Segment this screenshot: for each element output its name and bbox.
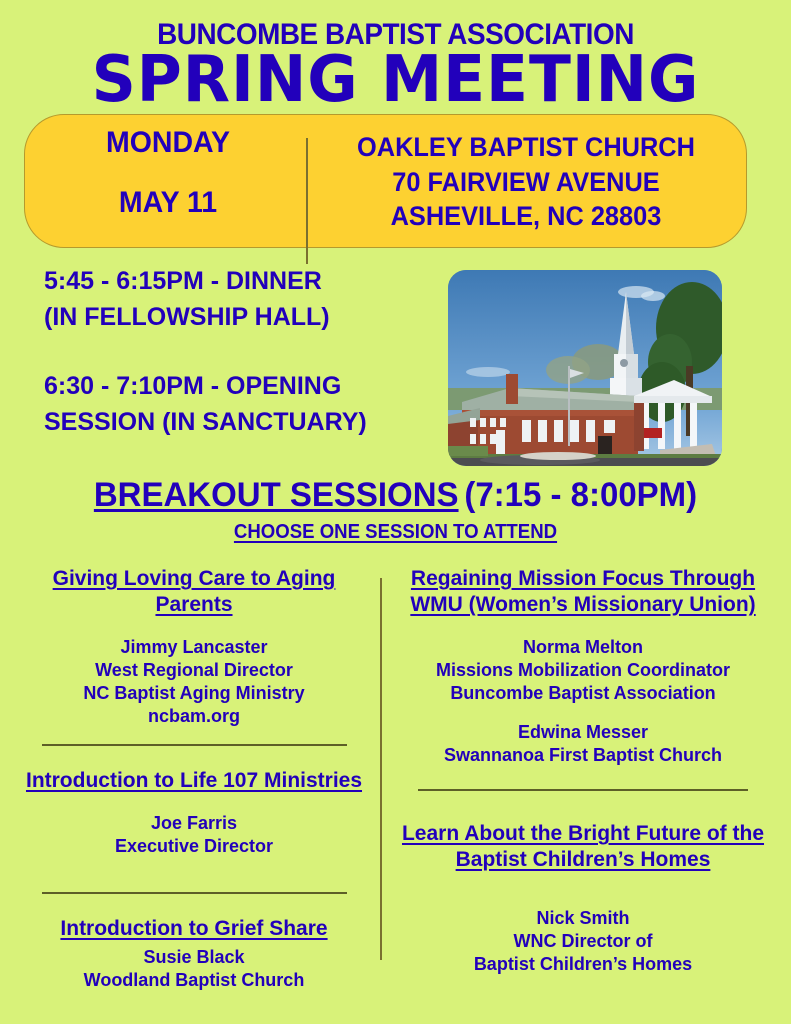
event-date: MAY 11 xyxy=(41,188,296,218)
right-session-column: Regaining Mission Focus Through WMU (Wom… xyxy=(394,566,772,976)
spacer xyxy=(20,894,368,916)
venue-city-state-zip: ASHEVILLE, NC 28803 xyxy=(325,199,727,234)
event-date-block: MONDAY MAY 11 xyxy=(41,128,296,218)
opening-location-label: SESSION (IN SANCTUARY) xyxy=(44,405,444,441)
presenter-website: ncbam.org xyxy=(20,705,368,728)
session-presenters: Joe Farris Executive Director xyxy=(20,812,368,858)
event-day: MONDAY xyxy=(41,128,296,158)
session-title: Regaining Mission Focus Through WMU (Wom… xyxy=(394,566,772,618)
presenter-name: Jimmy Lancaster xyxy=(20,636,368,659)
presenter-name: Susie Black xyxy=(20,946,368,969)
church-photo-illustration xyxy=(448,270,722,466)
dinner-location-label: (IN FELLOWSHIP HALL) xyxy=(44,300,444,336)
left-session-column: Giving Loving Care to Aging Parents Jimm… xyxy=(20,566,368,992)
session-presenters: Nick Smith WNC Director of Baptist Child… xyxy=(394,907,772,976)
session-title: Learn About the Bright Future of the Bap… xyxy=(394,821,772,873)
opening-time-label: 6:30 - 7:10PM - OPENING xyxy=(44,369,444,405)
spacer xyxy=(20,746,368,768)
breakout-heading-text: BREAKOUT SESSIONS xyxy=(94,476,459,514)
presenter-role: West Regional Director xyxy=(20,659,368,682)
columns-vertical-divider xyxy=(380,578,382,960)
presenter-name: Joe Farris xyxy=(20,812,368,835)
presenter-name: Edwina Messer xyxy=(394,721,772,744)
venue-street: 70 FAIRVIEW AVENUE xyxy=(325,165,727,200)
venue-name: OAKLEY BAPTIST CHURCH xyxy=(325,130,727,165)
session-title: Introduction to Life 107 Ministries xyxy=(20,768,368,794)
dinner-time-label: 5:45 - 6:15PM - DINNER xyxy=(44,264,444,300)
session-wmu-mission-focus: Regaining Mission Focus Through WMU (Wom… xyxy=(394,566,772,767)
presenter-org: Woodland Baptist Church xyxy=(20,969,368,992)
banner-vertical-divider xyxy=(306,138,308,264)
spacer xyxy=(394,791,772,821)
event-venue-block: OAKLEY BAPTIST CHURCH 70 FAIRVIEW AVENUE… xyxy=(325,130,727,234)
session-presenters: Jimmy Lancaster West Regional Director N… xyxy=(20,636,368,728)
presenter-org: Swannanoa First Baptist Church xyxy=(394,744,772,767)
page-title: SPRING MEETING xyxy=(16,48,775,112)
presenter-name: Nick Smith xyxy=(394,907,772,930)
session-life-107: Introduction to Life 107 Ministries Joe … xyxy=(20,768,368,858)
schedule-list: 5:45 - 6:15PM - DINNER (IN FELLOWSHIP HA… xyxy=(44,264,444,440)
presenter-role: Executive Director xyxy=(20,835,368,858)
presenter-role: Missions Mobilization Coordinator xyxy=(394,659,772,682)
presenter-org: Buncombe Baptist Association xyxy=(394,682,772,705)
schedule-item-dinner: 5:45 - 6:15PM - DINNER (IN FELLOWSHIP HA… xyxy=(44,264,444,335)
session-title: Introduction to Grief Share xyxy=(20,916,368,942)
breakout-time: (7:15 - 8:00PM) xyxy=(464,476,697,514)
session-baptist-childrens-homes: Learn About the Bright Future of the Bap… xyxy=(394,821,772,976)
presenter-gap xyxy=(394,705,772,721)
breakout-sessions-heading: BREAKOUT SESSIONS(7:15 - 8:00PM) xyxy=(12,476,779,515)
flyer-page: BUNCOMBE BAPTIST ASSOCIATION SPRING MEET… xyxy=(0,0,791,1024)
session-title: Giving Loving Care to Aging Parents xyxy=(20,566,368,618)
session-presenters: Norma Melton Missions Mobilization Coord… xyxy=(394,636,772,767)
breakout-subheading: CHOOSE ONE SESSION TO ATTEND xyxy=(28,521,764,544)
session-presenters: Susie Black Woodland Baptist Church xyxy=(20,946,368,992)
session-giving-loving-care: Giving Loving Care to Aging Parents Jimm… xyxy=(20,566,368,728)
session-grief-share: Introduction to Grief Share Susie Black … xyxy=(20,916,368,992)
presenter-org: Baptist Children’s Homes xyxy=(394,953,772,976)
schedule-item-opening-session: 6:30 - 7:10PM - OPENING SESSION (IN SANC… xyxy=(44,369,444,440)
presenter-role: WNC Director of xyxy=(394,930,772,953)
presenter-org: NC Baptist Aging Ministry xyxy=(20,682,368,705)
presenter-name: Norma Melton xyxy=(394,636,772,659)
church-photo xyxy=(448,270,722,466)
